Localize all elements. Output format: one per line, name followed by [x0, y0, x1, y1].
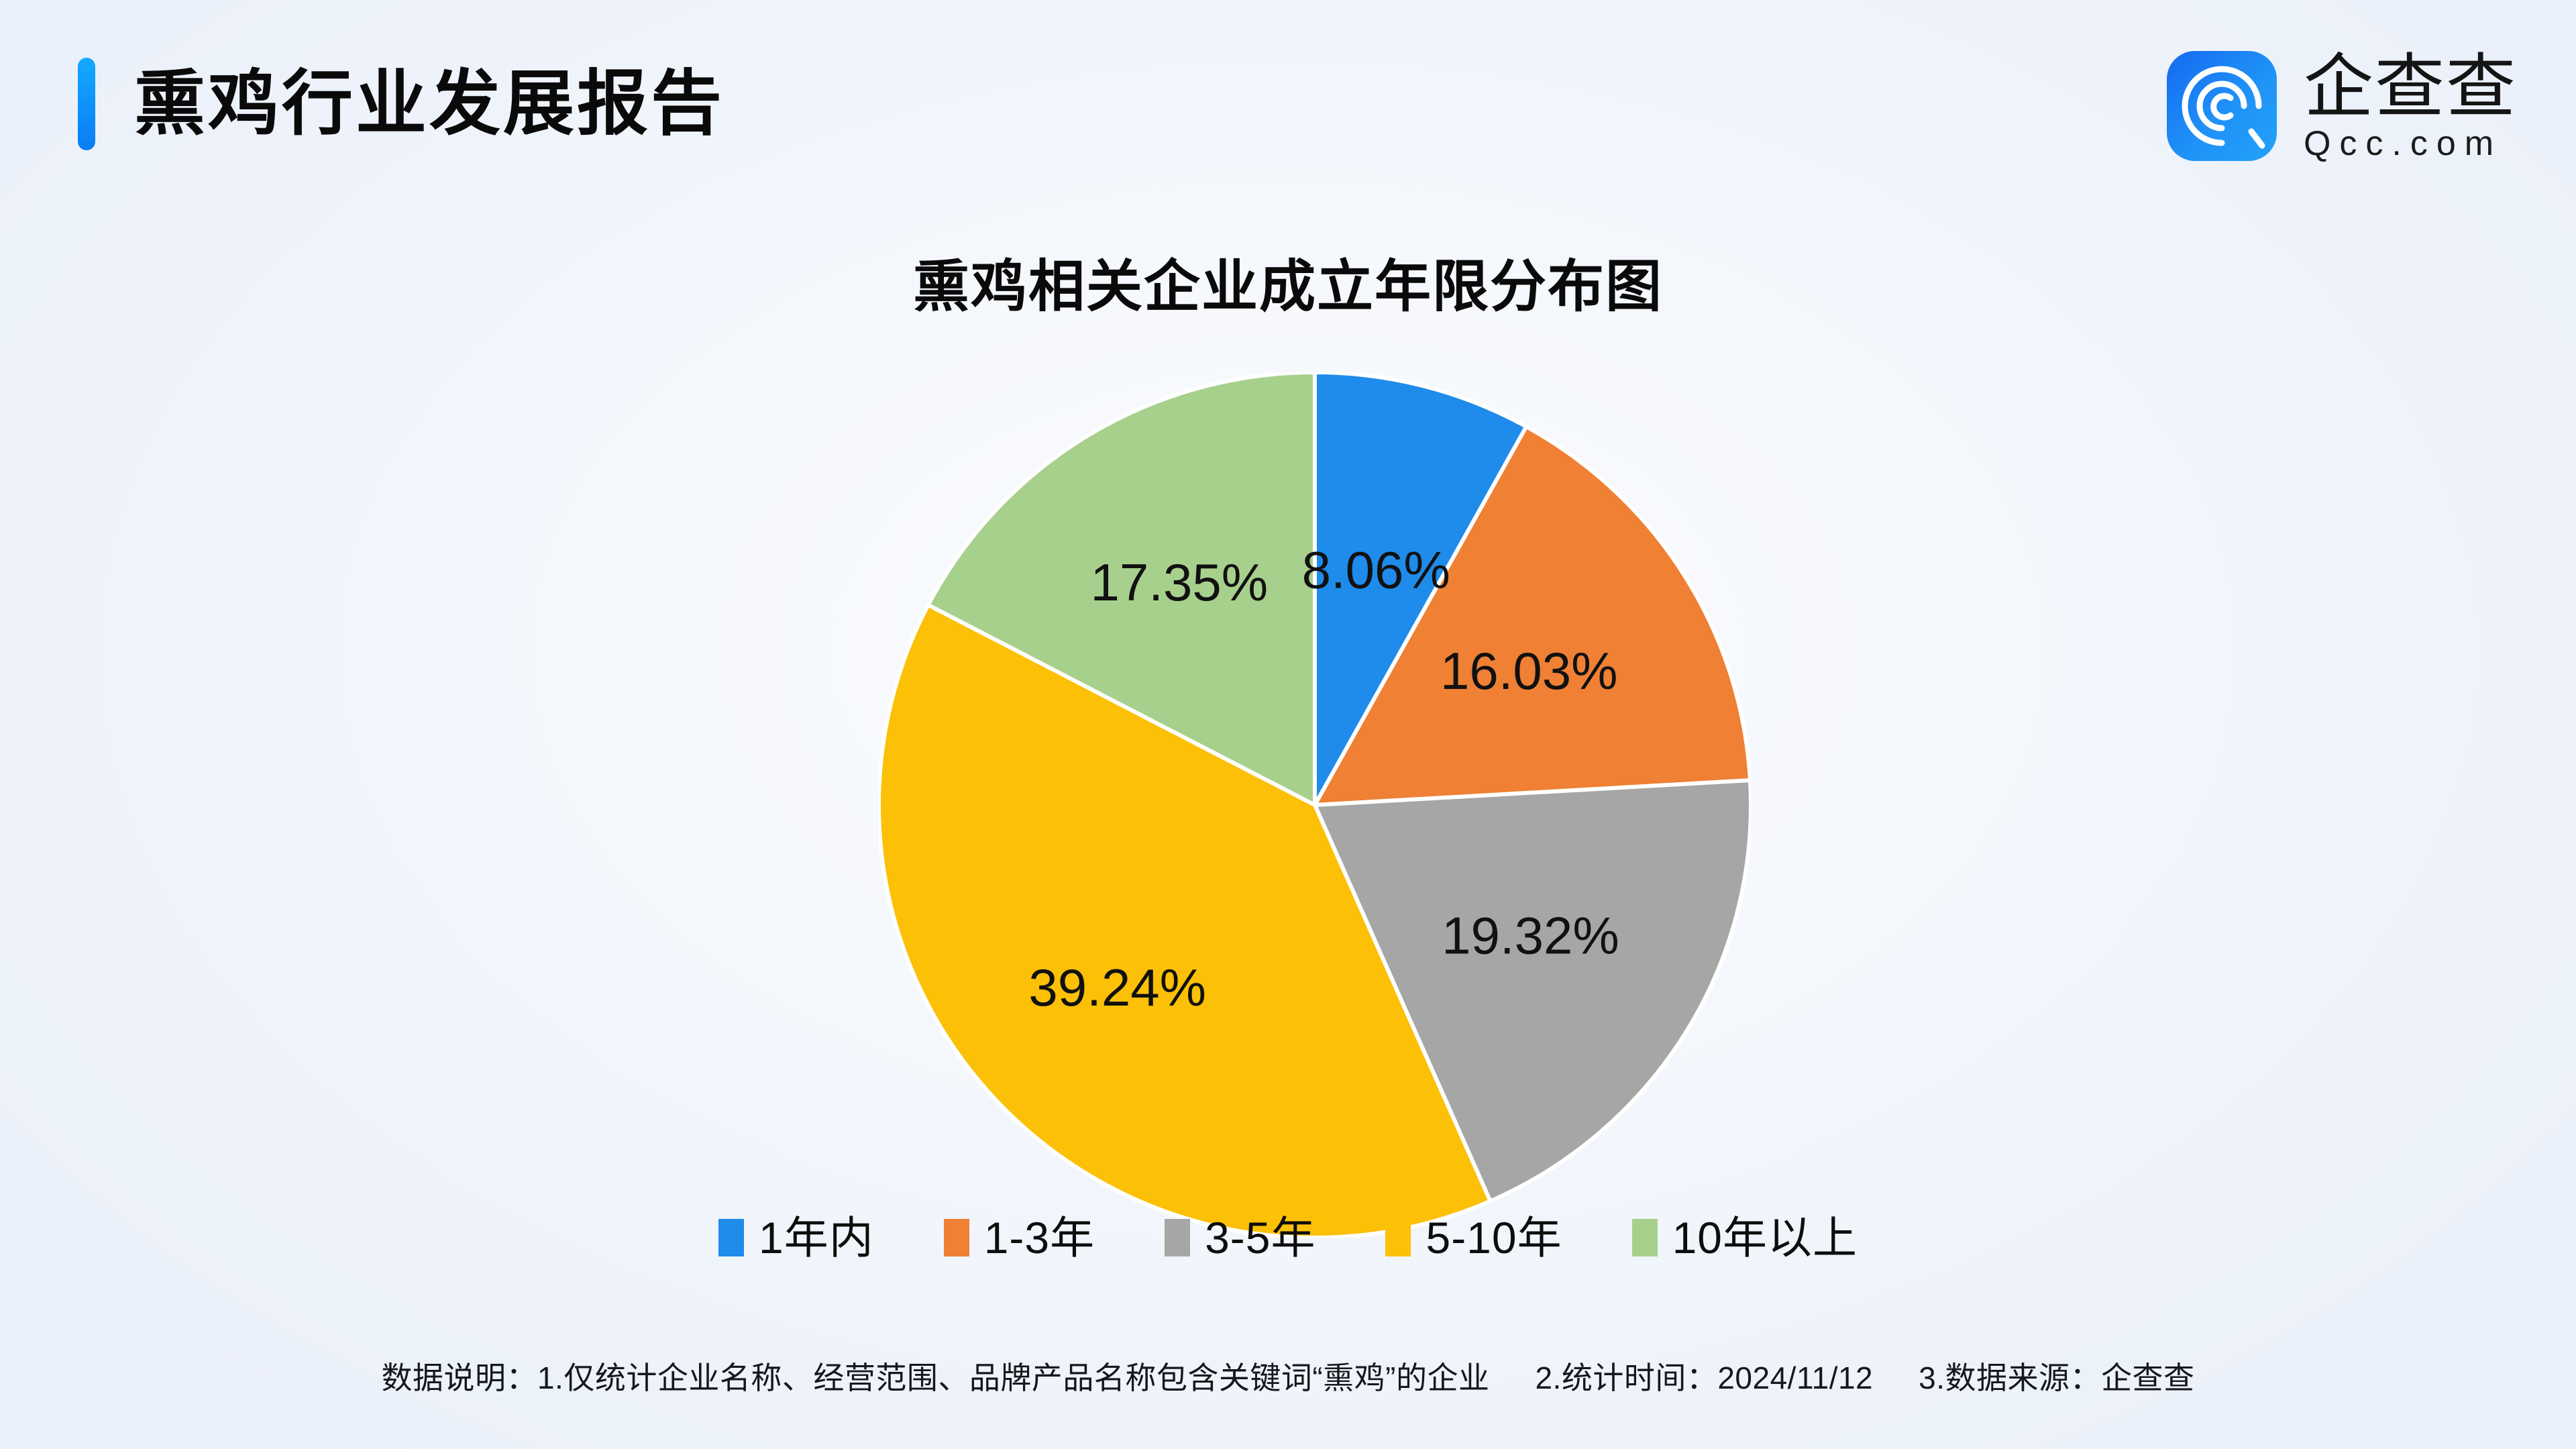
page-header: 熏鸡行业发展报告 企查查 Qcc.com [0, 0, 2576, 201]
legend-item[interactable]: 1年内 [718, 1216, 874, 1260]
page-title: 熏鸡行业发展报告 [134, 68, 724, 140]
brand-name-cn: 企查查 [2304, 51, 2517, 124]
legend-swatch-icon [1165, 1219, 1190, 1256]
legend-swatch-icon [1632, 1219, 1658, 1256]
footer-note-2: 2.统计时间：2024/11/12 [1535, 1360, 1873, 1395]
pie-slice-group [879, 372, 1751, 1238]
title-accent-bar [78, 58, 95, 150]
pie-chart-svg: 8.06%16.03%19.32%39.24%17.35% [879, 372, 1751, 1238]
footer-note-3: 3.数据来源：企查查 [1919, 1360, 2194, 1395]
brand-text: 企查查 Qcc.com [2304, 51, 2517, 160]
chart-title: 熏鸡相关企业成立年限分布图 [0, 241, 2576, 323]
footer-note: 数据说明：1.仅统计企业名称、经营范围、品牌产品名称包含关键词“熏鸡”的企业2.… [0, 1354, 2576, 1398]
legend-swatch-icon [944, 1219, 969, 1256]
title-block: 熏鸡行业发展报告 [78, 58, 724, 150]
pie-slice-label: 19.32% [1442, 906, 1619, 965]
brand-name-en: Qcc.com [2304, 126, 2517, 161]
legend-label: 1年内 [759, 1216, 874, 1260]
pie-chart: 8.06%16.03%19.32%39.24%17.35% [879, 372, 1751, 1238]
report-page: 熏鸡行业发展报告 企查查 Qcc.com 熏鸡相关企业成立年限分布图 [0, 0, 2576, 1449]
legend-label: 3-5年 [1205, 1216, 1316, 1260]
legend-swatch-icon [718, 1219, 744, 1256]
footer-note-1: 数据说明：1.仅统计企业名称、经营范围、品牌产品名称包含关键词“熏鸡”的企业 [381, 1360, 1489, 1395]
legend-item[interactable]: 10年以上 [1632, 1216, 1858, 1260]
legend-item[interactable]: 5-10年 [1385, 1216, 1562, 1260]
legend-item[interactable]: 1-3年 [944, 1216, 1095, 1260]
legend-label: 10年以上 [1672, 1216, 1858, 1260]
pie-slice-label: 16.03% [1440, 641, 1618, 700]
pie-slice-label: 8.06% [1302, 540, 1450, 599]
brand-logo[interactable]: 企查查 Qcc.com [2167, 51, 2517, 161]
chart-legend: 1年内1-3年3-5年5-10年10年以上 [0, 1216, 2576, 1260]
legend-swatch-icon [1385, 1219, 1411, 1256]
pie-slice-label: 39.24% [1028, 958, 1206, 1017]
qcc-q-logo-icon [2167, 51, 2277, 161]
legend-label: 5-10年 [1426, 1216, 1562, 1260]
legend-label: 1-3年 [984, 1216, 1095, 1260]
legend-item[interactable]: 3-5年 [1165, 1216, 1316, 1260]
pie-slice-label: 17.35% [1091, 553, 1269, 612]
